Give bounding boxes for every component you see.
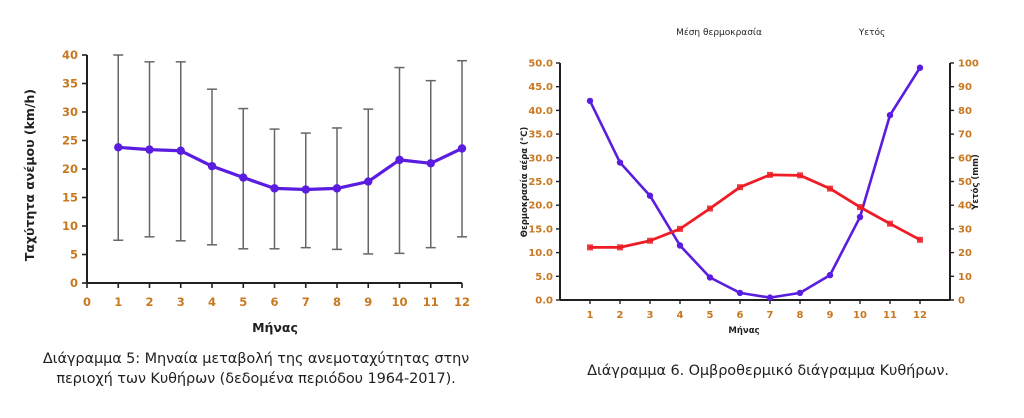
axis-lines xyxy=(82,55,462,288)
right-y-axis-tick-label: 60 xyxy=(958,153,972,164)
precipitation-point-marker xyxy=(677,242,683,248)
left-y-axis-tick-label: 40.0 xyxy=(528,106,553,117)
temperature-point-marker xyxy=(677,226,683,232)
figure-diagram-6: 0.05.010.015.020.025.030.035.040.045.050… xyxy=(512,0,1024,418)
y-axis-title: Ταχύτητα ανέμου (km/h) xyxy=(22,89,37,261)
x-axis-tick-label: 12 xyxy=(913,310,927,321)
temperature-point-marker xyxy=(827,186,833,192)
chart-diagram-6: 0.05.010.015.020.025.030.035.040.045.050… xyxy=(512,0,1024,345)
figure-caption-diagram-6: Διάγραμμα 6. Ομβροθερμικό διάγραμμα Κυθή… xyxy=(512,362,1024,382)
x-axis-tick-label: 2 xyxy=(145,295,153,309)
temperature-point-marker xyxy=(887,221,893,227)
precipitation-point-marker xyxy=(827,272,833,278)
right-y-axis-tick-label: 90 xyxy=(958,82,972,93)
data-point-marker xyxy=(239,173,247,181)
y-axis-tick-label: 10 xyxy=(62,219,78,233)
y-axis-tick-label: 35 xyxy=(62,77,78,91)
left-y-axis-tick-label: 5.0 xyxy=(535,272,553,283)
chart-svg-ombrothermic: 0.05.010.015.020.025.030.035.040.045.050… xyxy=(512,0,1024,345)
legend-label-temperature: Μέση θερμοκρασία xyxy=(676,27,762,38)
y-axis-tick-label: 20 xyxy=(62,162,78,176)
temperature-point-marker xyxy=(857,204,863,210)
temperature-point-marker xyxy=(587,244,593,250)
x-axis-tick-label: 7 xyxy=(302,295,310,309)
precipitation-point-marker xyxy=(797,290,803,296)
x-axis-tick-label: 4 xyxy=(208,295,216,309)
precipitation-point-marker xyxy=(707,274,713,280)
x-axis-tick-label: 12 xyxy=(454,295,470,309)
precipitation-point-marker xyxy=(647,193,653,199)
right-y-axis-tick-label: 100 xyxy=(958,59,979,70)
figure-caption-diagram-5: Διάγραμμα 5: Μηναία μεταβολή της ανεμοτα… xyxy=(0,350,512,389)
left-y-axis-tick-labels: 0.05.010.015.020.025.030.035.040.045.050… xyxy=(528,59,553,307)
figure-diagram-5: 0510152025303540 0123456789101112 Ταχύτη… xyxy=(0,0,512,418)
left-y-axis-tick-label: 45.0 xyxy=(528,82,553,93)
x-axis-tick-label: 5 xyxy=(707,310,714,321)
x-axis-tick-label: 4 xyxy=(677,310,684,321)
left-y-axis-tick-label: 20.0 xyxy=(528,201,553,212)
legend-label-precipitation: Υετός xyxy=(858,27,886,38)
temperature-point-marker xyxy=(797,172,803,178)
precipitation-point-marker xyxy=(587,98,593,104)
x-axis-tick-labels: 0123456789101112 xyxy=(83,295,470,309)
right-y-axis-tick-label: 10 xyxy=(958,272,972,283)
temperature-point-marker xyxy=(647,238,653,244)
right-y-axis-tick-label: 20 xyxy=(958,248,972,259)
x-axis-tick-label: 10 xyxy=(853,310,867,321)
x-axis-tick-label: 9 xyxy=(827,310,834,321)
precipitation-point-marker xyxy=(617,159,623,165)
y-axis-tick-label: 15 xyxy=(62,191,78,205)
caption-line-2: περιοχή των Κυθήρων (δεδομένα περιόδου 1… xyxy=(0,370,512,390)
left-y-axis-tick-label: 15.0 xyxy=(528,224,553,235)
data-point-marker xyxy=(114,143,122,151)
right-y-axis-tick-label: 40 xyxy=(958,201,972,212)
x-axis-tick-label: 8 xyxy=(797,310,804,321)
temperature-point-marker xyxy=(767,172,773,178)
right-y-axis-tick-label: 70 xyxy=(958,130,972,141)
caption-line-1: Διάγραμμα 5: Μηναία μεταβολή της ανεμοτα… xyxy=(0,350,512,370)
x-axis-tick-label: 9 xyxy=(364,295,372,309)
y-axis-tick-label: 25 xyxy=(62,134,78,148)
left-y-axis-tick-label: 10.0 xyxy=(528,248,553,259)
data-point-marker xyxy=(177,147,185,155)
x-axis-tick-label: 11 xyxy=(883,310,897,321)
axis-lines xyxy=(556,63,954,304)
x-axis-tick-label: 11 xyxy=(423,295,439,309)
left-y-axis-tick-label: 35.0 xyxy=(528,130,553,141)
temperature-point-marker xyxy=(617,244,623,250)
precipitation-point-marker xyxy=(767,294,773,300)
right-y-axis-tick-label: 30 xyxy=(958,224,972,235)
data-line-wind-speed xyxy=(118,147,462,189)
x-axis-tick-label: 7 xyxy=(767,310,774,321)
y-axis-tick-labels: 0510152025303540 xyxy=(62,48,78,290)
y-axis-tick-label: 5 xyxy=(70,248,78,262)
left-y-axis-tick-label: 25.0 xyxy=(528,177,553,188)
precipitation-point-marker xyxy=(887,112,893,118)
caption-line-1: Διάγραμμα 6. Ομβροθερμικό διάγραμμα Κυθή… xyxy=(512,362,1024,382)
data-polyline xyxy=(118,147,462,189)
x-axis-tick-label: 10 xyxy=(391,295,407,309)
temperature-point-marker xyxy=(707,206,713,212)
right-y-axis-tick-label: 0 xyxy=(958,296,965,307)
data-point-marker xyxy=(270,184,278,192)
x-axis-tick-label: 0 xyxy=(83,295,91,309)
data-line-precipitation xyxy=(590,68,920,298)
data-point-marker xyxy=(395,156,403,164)
precipitation-point-marker xyxy=(737,290,743,296)
right-y-axis-tick-label: 50 xyxy=(958,177,972,188)
x-axis-tick-label: 6 xyxy=(270,295,278,309)
x-axis-title: Μήνας xyxy=(252,320,298,335)
data-point-marker xyxy=(427,159,435,167)
data-point-marker xyxy=(458,144,466,152)
data-point-marker xyxy=(208,162,216,170)
x-axis-tick-labels: 123456789101112 xyxy=(587,310,927,321)
y-axis-tick-label: 30 xyxy=(62,105,78,119)
x-axis-title: Μήνας xyxy=(728,326,759,336)
y-axis-tick-label: 40 xyxy=(62,48,78,62)
x-axis-tick-label: 2 xyxy=(617,310,624,321)
chart-diagram-5: 0510152025303540 0123456789101112 Ταχύτη… xyxy=(0,0,512,345)
x-axis-tick-label: 1 xyxy=(114,295,122,309)
right-y-axis-title: Υετός (mm) xyxy=(970,154,981,211)
x-axis-tick-label: 3 xyxy=(177,295,185,309)
left-y-axis-title: Θερμοκρασία αέρα (°C) xyxy=(519,127,530,238)
temperature-point-marker xyxy=(737,184,743,190)
x-axis-tick-label: 8 xyxy=(333,295,341,309)
precipitation-point-marker xyxy=(917,65,923,71)
x-axis-tick-label: 5 xyxy=(239,295,247,309)
data-point-marker xyxy=(145,145,153,153)
left-y-axis-tick-label: 0.0 xyxy=(535,296,553,307)
x-axis-tick-label: 1 xyxy=(587,310,594,321)
x-axis-tick-label: 6 xyxy=(737,310,744,321)
left-y-axis-tick-label: 50.0 xyxy=(528,59,553,70)
error-bars xyxy=(113,55,467,254)
y-axis-tick-label: 0 xyxy=(70,276,78,290)
precipitation-polyline xyxy=(590,68,920,298)
precipitation-point-marker xyxy=(857,214,863,220)
left-y-axis-tick-label: 30.0 xyxy=(528,153,553,164)
x-axis-tick-label: 3 xyxy=(647,310,654,321)
right-y-axis-tick-label: 80 xyxy=(958,106,972,117)
temperature-point-marker xyxy=(917,237,923,243)
data-point-marker xyxy=(364,177,372,185)
data-point-marker xyxy=(333,184,341,192)
data-point-marker xyxy=(302,185,310,193)
chart-svg-wind-speed: 0510152025303540 0123456789101112 Ταχύτη… xyxy=(0,0,512,345)
